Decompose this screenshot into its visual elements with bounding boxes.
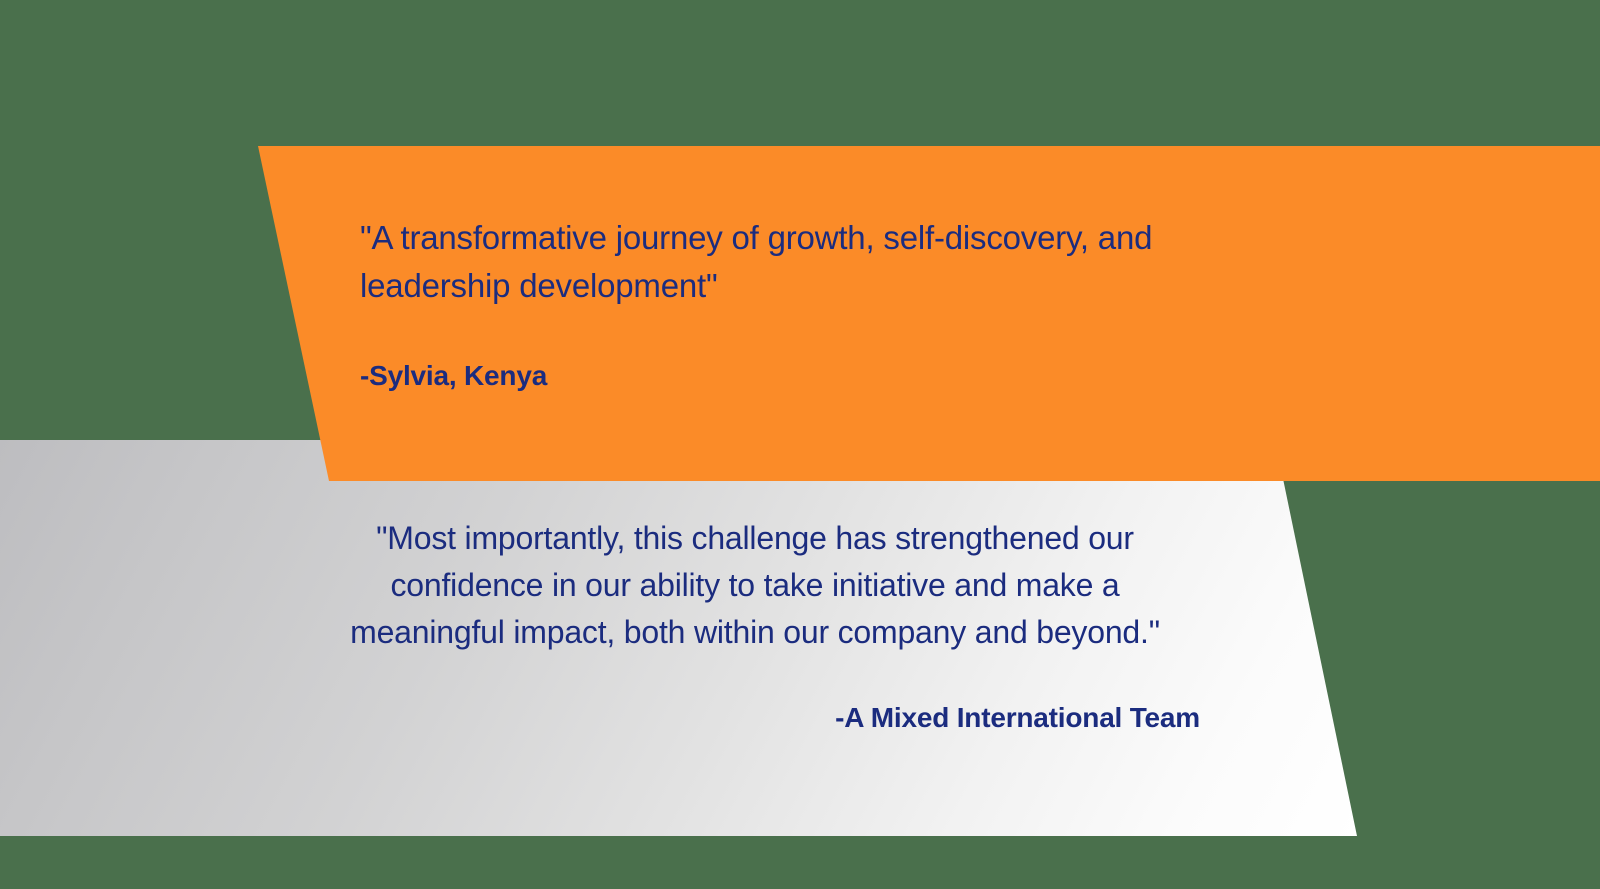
quote-line: confidence in our ability to take initia…: [305, 562, 1205, 609]
testimonial-attribution-gray: -A Mixed International Team: [305, 700, 1200, 736]
testimonial-panel-orange: [250, 146, 1600, 481]
testimonial-quote-gray: "Most importantly, this challenge has st…: [305, 515, 1205, 656]
quote-line: "Most importantly, this challenge has st…: [305, 515, 1205, 562]
testimonial-attribution-orange: -Sylvia, Kenya: [360, 358, 547, 394]
testimonial-slide: "A transformative journey of growth, sel…: [0, 0, 1600, 889]
quote-line: leadership development": [360, 262, 1200, 310]
quote-line: "A transformative journey of growth, sel…: [360, 214, 1200, 262]
quote-line: meaningful impact, both within our compa…: [305, 609, 1205, 656]
testimonial-quote-orange: "A transformative journey of growth, sel…: [360, 214, 1200, 310]
